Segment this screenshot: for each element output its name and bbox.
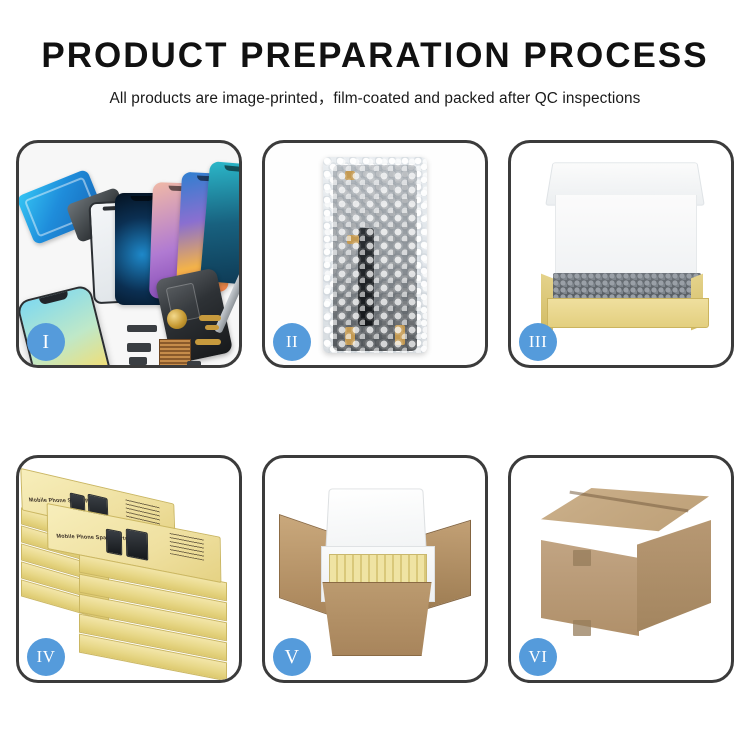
- part-flex-cable-3-icon: [195, 339, 221, 345]
- step-panel-6: VI: [508, 455, 734, 683]
- step-panel-1: I: [16, 140, 242, 368]
- step-1-badge: I: [27, 323, 65, 361]
- retail-box-spec-text-front: [170, 532, 204, 561]
- step-2-badge: II: [273, 323, 311, 361]
- page-title: PRODUCT PREPARATION PROCESS: [0, 38, 750, 75]
- step-panel-3: III: [508, 140, 734, 368]
- part-speaker-icon: [127, 325, 157, 332]
- carton-right-face-icon: [637, 520, 711, 632]
- retail-box-window-front-1: [106, 529, 122, 556]
- step-3-badge: III: [519, 323, 557, 361]
- tape-piece-1-icon: [345, 171, 355, 180]
- carton-tape-lower-icon: [573, 620, 591, 636]
- step-4-badge: IV: [27, 638, 65, 676]
- wrapped-screen-icon: [333, 165, 417, 351]
- part-connector-2-icon: [129, 357, 147, 365]
- part-connector-1-icon: [127, 343, 151, 352]
- carton-body-icon: [315, 582, 439, 656]
- bubble-wrap-bag-icon: [323, 157, 427, 353]
- tape-piece-2-icon: [347, 235, 359, 244]
- part-flex-cable-1-icon: [199, 315, 221, 321]
- carton-tape-upper-icon: [573, 550, 591, 566]
- part-camera-lens-icon: [167, 309, 187, 329]
- grey-parts-row-icon: [553, 273, 701, 300]
- step-6-badge: VI: [519, 638, 557, 676]
- part-flex-cable-2-icon: [205, 325, 219, 330]
- part-chip-array-icon: [159, 339, 191, 365]
- page-subtitle: All products are image-printed，film-coat…: [0, 86, 750, 108]
- wrapped-flex-cable-icon: [358, 228, 374, 326]
- foam-lining-icon: [555, 195, 697, 277]
- tape-piece-4-icon: [395, 325, 405, 345]
- foam-cooler-lid-icon: [325, 488, 427, 553]
- process-steps-grid: I II III: [16, 140, 734, 683]
- step-panel-4: Mobile Phone Spare Parts Mobile Phone Sp…: [16, 455, 242, 683]
- step-panel-2: II: [262, 140, 488, 368]
- step-5-badge: V: [273, 638, 311, 676]
- tape-piece-3-icon: [345, 327, 355, 345]
- step-panel-5: V: [262, 455, 488, 683]
- retail-box-window-front-2: [126, 528, 148, 560]
- part-screw-bracket-icon: [187, 361, 201, 365]
- yellow-box-front-icon: [547, 298, 709, 328]
- page-header: PRODUCT PREPARATION PROCESS All products…: [0, 0, 750, 108]
